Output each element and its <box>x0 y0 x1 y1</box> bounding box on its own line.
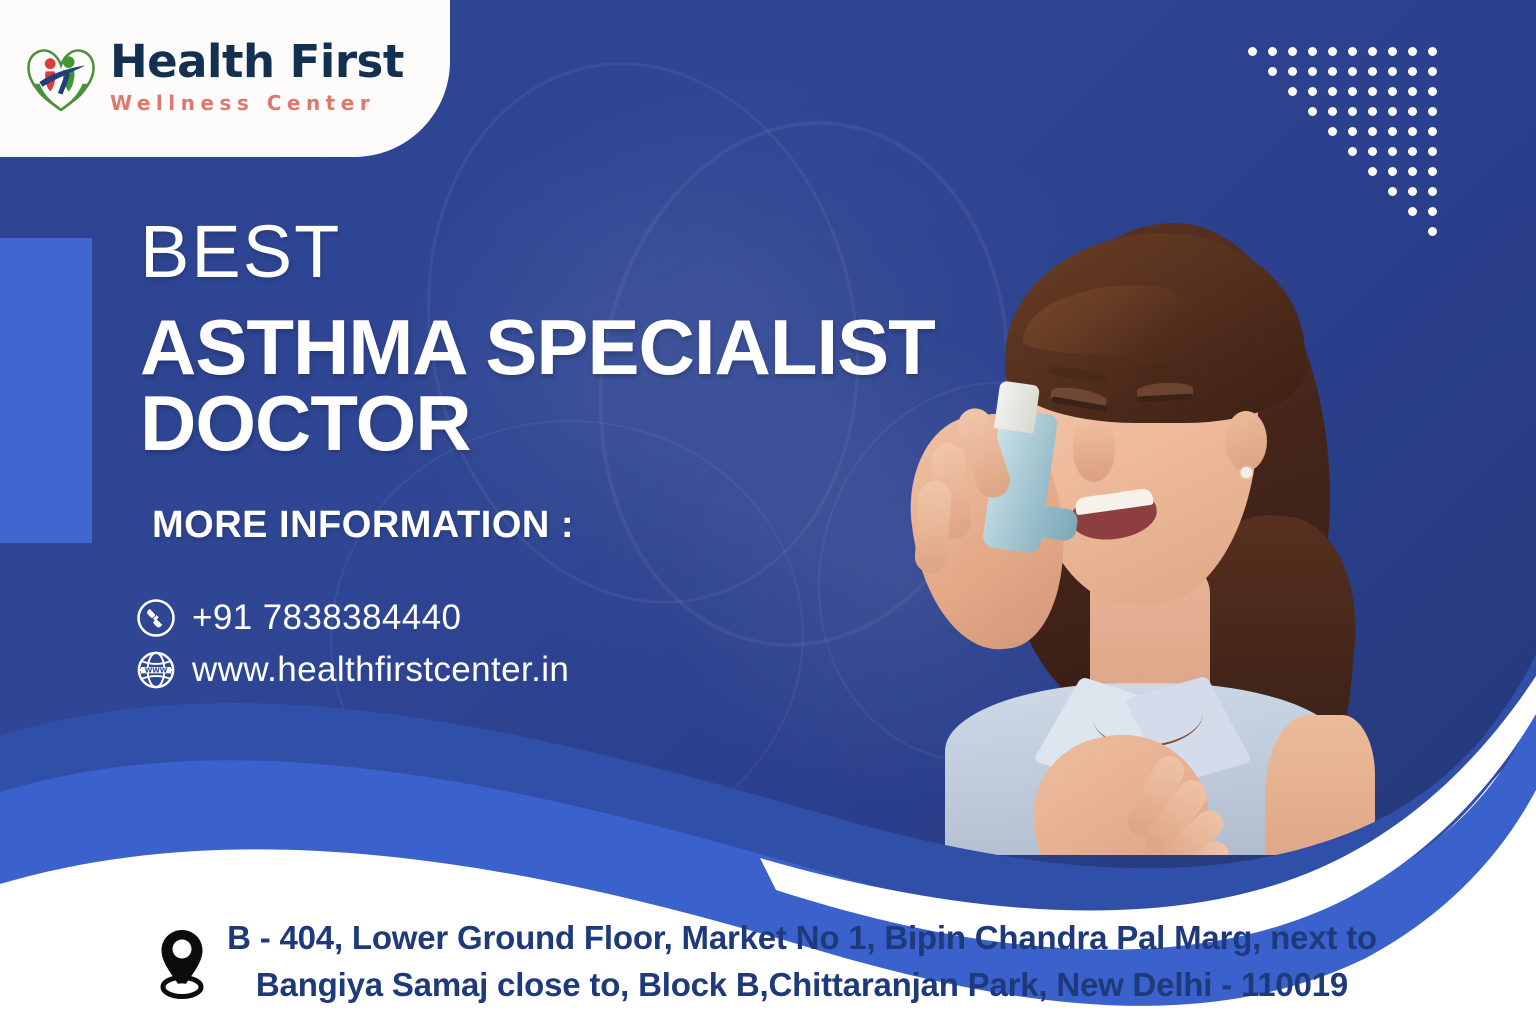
dot <box>1368 167 1377 176</box>
dot <box>1428 87 1437 96</box>
dot <box>1328 127 1337 136</box>
dot-grid-row <box>1248 184 1458 204</box>
dot <box>1308 47 1317 56</box>
dot <box>1348 47 1357 56</box>
dot-grid-row <box>1248 144 1458 164</box>
headline-block: BEST ASTHMA SPECIALIST DOCTOR MORE INFOR… <box>140 215 960 547</box>
earring <box>1241 467 1252 478</box>
dot <box>1408 187 1417 196</box>
brand-tagline: Wellness Center <box>110 91 404 115</box>
address-line-1: B - 404, Lower Ground Floor, Market No 1… <box>227 915 1377 962</box>
dot <box>1388 127 1397 136</box>
dot <box>1428 127 1437 136</box>
dot <box>1388 67 1397 76</box>
dot <box>1288 67 1297 76</box>
dot <box>1428 147 1437 156</box>
logo-card[interactable]: Health First Wellness Center <box>0 0 450 157</box>
more-information-label: MORE INFORMATION : <box>152 504 960 547</box>
dot <box>1348 87 1357 96</box>
dot <box>1348 67 1357 76</box>
dot <box>1348 147 1357 156</box>
dot <box>1328 87 1337 96</box>
dot <box>1388 87 1397 96</box>
headline-title: ASTHMA SPECIALIST DOCTOR <box>140 309 960 462</box>
headline-eyebrow: BEST <box>140 215 960 289</box>
dot <box>1368 87 1377 96</box>
dot <box>1328 107 1337 116</box>
dot <box>1408 127 1417 136</box>
dot <box>1408 107 1417 116</box>
dot <box>1348 107 1357 116</box>
phone-number: +91 7838384440 <box>192 598 461 638</box>
dot <box>1368 47 1377 56</box>
dot <box>1368 67 1377 76</box>
dot-grid-row <box>1248 164 1458 184</box>
dot <box>1428 67 1437 76</box>
heart-hands-people-logo-icon <box>22 39 100 113</box>
dot-grid-row <box>1248 44 1458 64</box>
dot <box>1388 167 1397 176</box>
headline-title-line1: ASTHMA SPECIALIST <box>140 303 935 391</box>
dot-grid-row <box>1248 124 1458 144</box>
location-pin-icon <box>159 928 205 1002</box>
brand-name: Health First <box>110 39 404 84</box>
dot <box>1308 87 1317 96</box>
address-line-2: Bangiya Samaj close to, Block B,Chittara… <box>227 962 1377 1009</box>
nose <box>1073 420 1115 482</box>
dot-grid-row <box>1248 84 1458 104</box>
dot <box>1288 47 1297 56</box>
dot <box>1348 127 1357 136</box>
dot-grid-row <box>1248 104 1458 124</box>
inhaler-canister <box>994 380 1040 433</box>
dot <box>1408 67 1417 76</box>
dot <box>1428 187 1437 196</box>
dot <box>1288 87 1297 96</box>
dot <box>1388 107 1397 116</box>
dot <box>1268 67 1277 76</box>
inhaler-mouthpiece <box>1027 504 1079 542</box>
address-bar: B - 404, Lower Ground Floor, Market No 1… <box>0 900 1536 1024</box>
logo-wordmark: Health First Wellness Center <box>110 39 404 115</box>
dot <box>1308 107 1317 116</box>
dot <box>1308 67 1317 76</box>
dot <box>1388 147 1397 156</box>
dot <box>1368 147 1377 156</box>
poster-canvas: BEST ASTHMA SPECIALIST DOCTOR MORE INFOR… <box>0 0 1536 1024</box>
dot <box>1428 47 1437 56</box>
dot <box>1428 107 1437 116</box>
phone-icon <box>136 598 176 638</box>
dot <box>1388 47 1397 56</box>
dot <box>1328 67 1337 76</box>
dot <box>1248 47 1257 56</box>
left-accent-bar <box>0 238 92 543</box>
contact-row-phone[interactable]: +91 7838384440 <box>136 598 569 638</box>
dot <box>1408 47 1417 56</box>
dot <box>1408 147 1417 156</box>
dot <box>1268 47 1277 56</box>
dot <box>1408 167 1417 176</box>
address-text: B - 404, Lower Ground Floor, Market No 1… <box>227 915 1377 1009</box>
headline-title-line2: DOCTOR <box>140 385 960 461</box>
dot <box>1428 167 1437 176</box>
ear <box>1225 411 1267 471</box>
dot <box>1328 47 1337 56</box>
dot <box>1368 107 1377 116</box>
dot <box>1408 87 1417 96</box>
dot <box>1368 127 1377 136</box>
dot <box>1388 187 1397 196</box>
dot-grid-row <box>1248 64 1458 84</box>
